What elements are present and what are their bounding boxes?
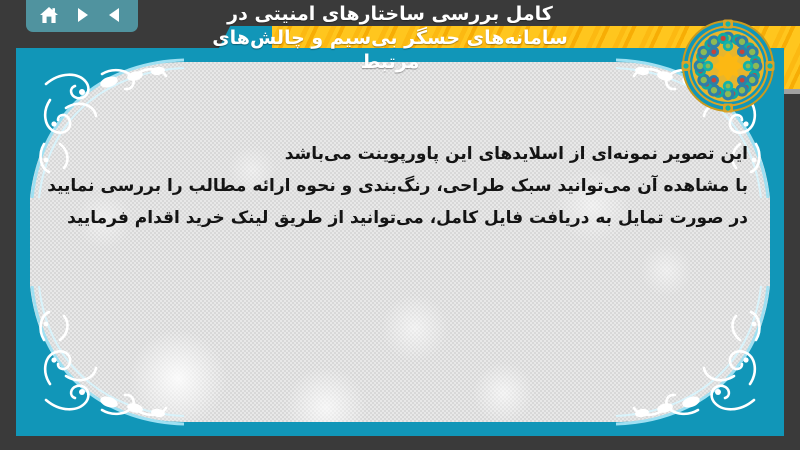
body-line-2: با مشاهده آن می‌توانید سبک طراحی، رنگ‌بن… — [40, 170, 748, 202]
navigation-bar — [26, 0, 138, 32]
home-icon[interactable] — [35, 3, 63, 27]
content-card — [16, 48, 784, 436]
title-line-1: کامل بررسی ساختارهای امنیتی در — [130, 2, 650, 26]
content-card-surface — [30, 62, 770, 422]
body-line-1: این تصویر نمونه‌ای از اسلایدهای این پاور… — [40, 138, 748, 170]
slide-canvas: کامل بررسی ساختارهای امنیتی در سامانه‌ها… — [0, 0, 800, 450]
prev-arrow-icon[interactable] — [101, 3, 129, 27]
islamic-medallion-ornament-icon — [680, 18, 776, 114]
next-arrow-icon[interactable] — [68, 3, 96, 27]
body-line-3: در صورت تمایل به دریافت فایل کامل، می‌تو… — [40, 202, 748, 234]
slide-body: این تصویر نمونه‌ای از اسلایدهای این پاور… — [40, 138, 748, 234]
